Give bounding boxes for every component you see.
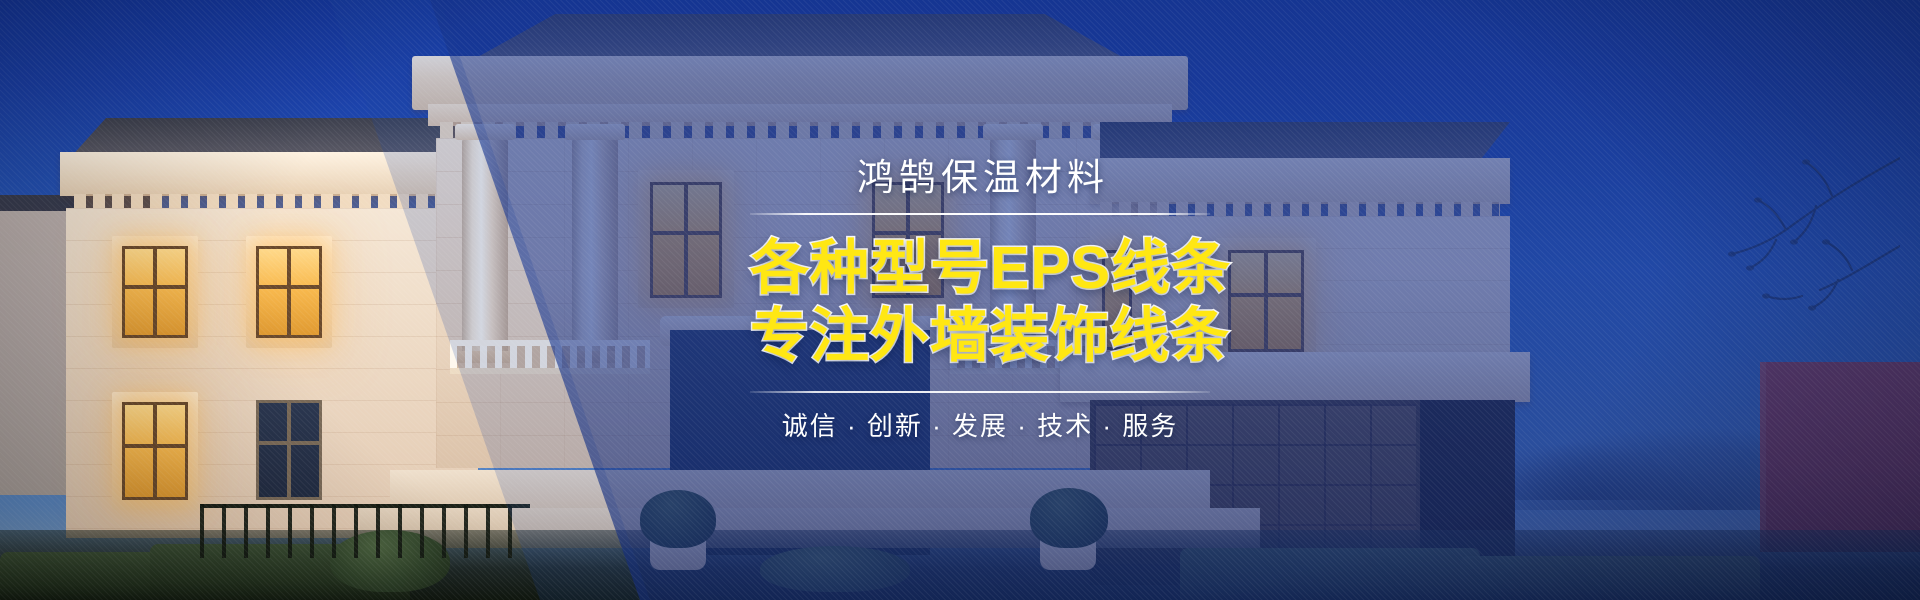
hero-banner: 鸿鹄保温材料 各种型号EPS线条 专注外墙装饰线条 诚信 · 创新 · 发展 ·… xyxy=(0,0,1920,600)
headline-line-2: 专注外墙装饰线条 xyxy=(750,303,1210,369)
divider-bottom xyxy=(750,391,1210,393)
divider-top xyxy=(750,213,1210,215)
brand-name: 鸿鹄保温材料 xyxy=(750,158,1210,199)
banner-copy: 鸿鹄保温材料 各种型号EPS线条 专注外墙装饰线条 诚信 · 创新 · 发展 ·… xyxy=(0,0,1920,600)
tagline: 诚信 · 创新 · 发展 · 技术 · 服务 xyxy=(750,411,1210,442)
headline-line-1: 各种型号EPS线条 xyxy=(750,235,1210,301)
